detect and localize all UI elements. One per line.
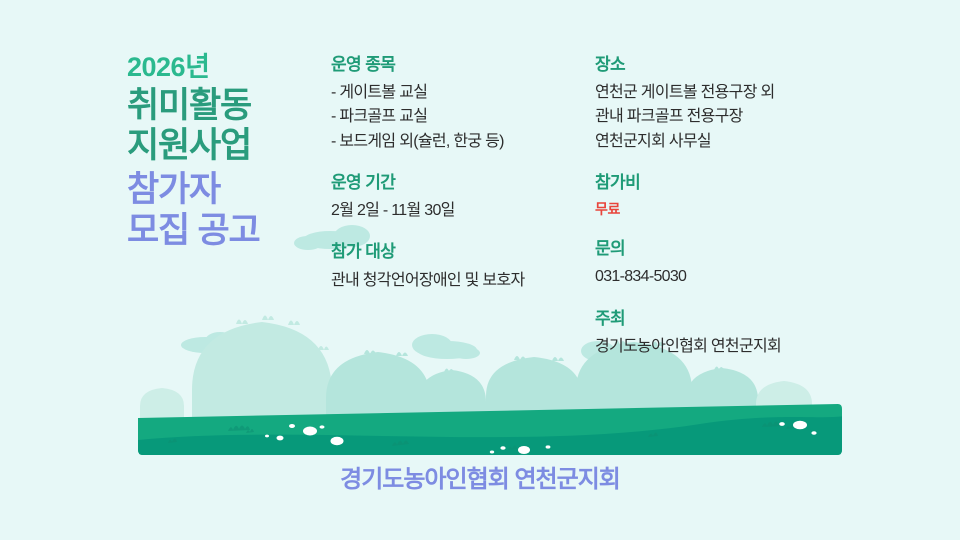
info-block-venue: 장소 연천군 게이트볼 전용구장 외 관내 파크골프 전용구장 연천군지회 사무… <box>595 54 885 154</box>
info-line-contact-phone: 031-834-5030 <box>595 265 885 289</box>
poster-canvas: 2026년 취미활동 지원사업 참가자 모집 공고 운영 종목 - 게이트볼 교… <box>0 0 960 540</box>
info-line-venue-2: 관내 파크골프 전용구장 <box>595 105 885 129</box>
info-line-program-2: - 파크골프 교실 <box>331 105 593 129</box>
info-block-host: 주최 경기도농아인협회 연천군지회 <box>595 308 885 359</box>
info-column-right: 장소 연천군 게이트볼 전용구장 외 관내 파크골프 전용구장 연천군지회 사무… <box>595 54 885 359</box>
info-line-eligibility-1: 관내 청각언어장애인 및 보호자 <box>331 269 593 293</box>
info-heading-program: 운영 종목 <box>331 54 593 76</box>
footer-bar: 경기도농아인협회 연천군지회 <box>0 466 960 495</box>
info-heading-contact: 문의 <box>595 238 885 260</box>
title-main: 취미활동 지원사업 <box>127 86 342 167</box>
info-heading-venue: 장소 <box>595 54 885 76</box>
title-sub-line-1: 참가자 <box>127 170 342 211</box>
title-year: 2026년 <box>127 52 342 84</box>
title-sub-line-2: 모집 공고 <box>127 211 342 252</box>
title-main-line-2: 지원사업 <box>127 126 342 167</box>
info-block-program: 운영 종목 - 게이트볼 교실 - 파크골프 교실 - 보드게임 외(슐런, 한… <box>331 54 593 154</box>
info-heading-fee: 참가비 <box>595 172 885 194</box>
info-block-period: 운영 기간 2월 2일 - 11월 30일 <box>331 172 593 223</box>
info-line-program-3: - 보드게임 외(슐런, 한궁 등) <box>331 130 593 154</box>
title-main-line-1: 취미활동 <box>127 86 342 127</box>
info-heading-host: 주최 <box>595 308 885 330</box>
info-heading-eligibility: 참가 대상 <box>331 241 593 263</box>
info-heading-period: 운영 기간 <box>331 172 593 194</box>
info-line-venue-3: 연천군지회 사무실 <box>595 130 885 154</box>
info-line-program-1: - 게이트볼 교실 <box>331 81 593 105</box>
title-sub: 참가자 모집 공고 <box>127 170 342 251</box>
footer-organization-name: 경기도농아인협회 연천군지회 <box>340 466 620 495</box>
poster-title-block: 2026년 취미활동 지원사업 참가자 모집 공고 <box>127 52 342 251</box>
info-column-middle: 운영 종목 - 게이트볼 교실 - 파크골프 교실 - 보드게임 외(슐런, 한… <box>331 54 593 293</box>
info-line-fee-1: 무료 <box>595 199 885 220</box>
info-block-fee: 참가비 무료 <box>595 172 885 220</box>
info-line-period-1: 2월 2일 - 11월 30일 <box>331 199 593 223</box>
info-block-contact: 문의 031-834-5030 <box>595 238 885 289</box>
info-line-venue-1: 연천군 게이트볼 전용구장 외 <box>595 81 885 105</box>
info-line-host-1: 경기도농아인협회 연천군지회 <box>595 335 885 359</box>
info-block-eligibility: 참가 대상 관내 청각언어장애인 및 보호자 <box>331 241 593 292</box>
